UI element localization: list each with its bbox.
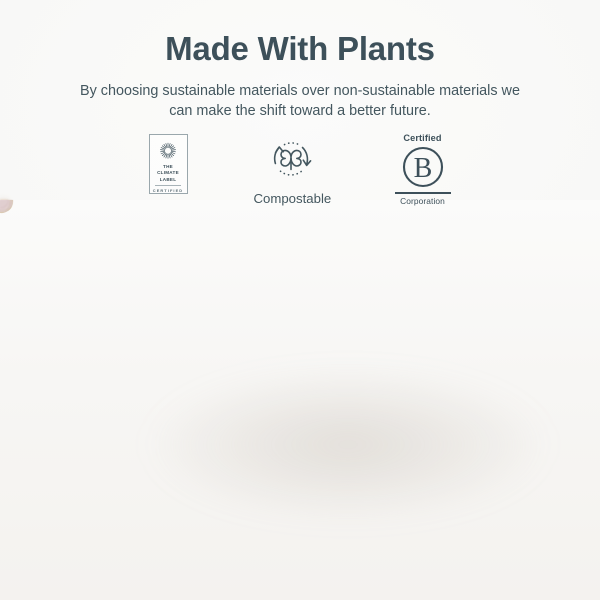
climate-label-certified: CERTIFIED <box>153 188 183 193</box>
b-corp-corporation-text: Corporation <box>394 197 452 205</box>
compostable-recycle-icon <box>261 138 321 184</box>
header-block: Made With Plants By choosing sustainable… <box>0 0 600 122</box>
b-corp-divider <box>395 192 451 194</box>
compostable-label: Compostable <box>254 191 328 206</box>
product-banner: Made With Plants By choosing sustainable… <box>0 0 600 600</box>
climate-label-divider <box>155 185 181 186</box>
pellets-photo <box>0 200 600 600</box>
page-title: Made With Plants <box>0 30 600 68</box>
b-corp-letter: B <box>413 153 432 184</box>
badge-b-corp: Certified B Corporation <box>394 134 452 206</box>
badge-compostable: Compostable <box>254 134 328 206</box>
page-subtitle: By choosing sustainable materials over n… <box>0 81 600 122</box>
climate-label-line3: LABEL <box>160 177 177 183</box>
climate-label-box: THE CLIMATE LABEL CERTIFIED <box>149 134 188 194</box>
b-corp-icon: B <box>402 146 444 188</box>
pellet-layer-loose <box>0 200 600 600</box>
sunburst-icon <box>156 140 180 161</box>
certification-badges: THE CLIMATE LABEL CERTIFIED <box>0 134 600 206</box>
b-corp-certified-text: Certified <box>394 134 452 143</box>
badge-climate-label: THE CLIMATE LABEL CERTIFIED <box>149 134 188 194</box>
